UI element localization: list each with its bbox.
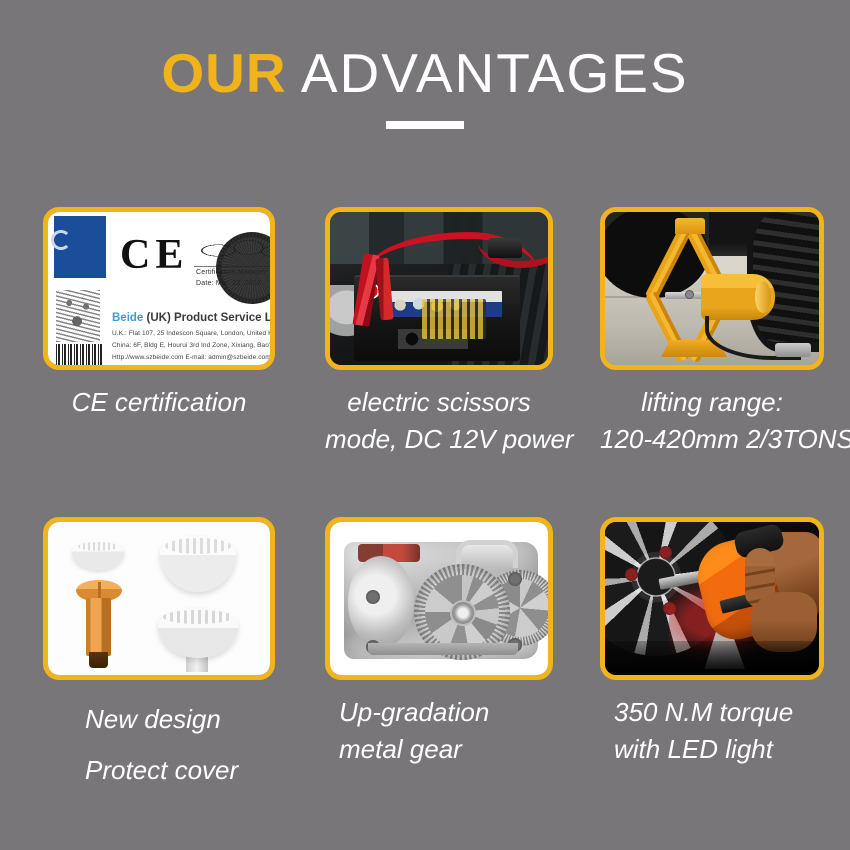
jack-pivot-pin — [685, 290, 694, 299]
jack-electric-motor — [701, 274, 775, 320]
caption-line: mode, DC 12V power — [325, 421, 553, 458]
jack-saddle — [675, 218, 705, 234]
power-plug — [775, 343, 811, 357]
title-underline-bar — [386, 121, 464, 129]
gearbox-bolt — [508, 572, 522, 586]
impact-wrench-on-wheel-photo — [605, 522, 819, 675]
page-title: OUR ADVANTAGES — [0, 42, 850, 104]
advantages-row-bottom: New design Protect cover — [0, 517, 850, 827]
caption-line: with LED light — [614, 731, 824, 768]
scissor-jack-under-car-photo — [605, 212, 819, 365]
royal-crest-icon — [56, 290, 100, 342]
certificate-address-line-2: China: 6F, Bldg E, Hourui 3rd Ind Zone, … — [112, 342, 270, 349]
advantage-caption: lifting range: 120-420mm 2/3TONS — [600, 384, 824, 458]
photo-frame — [600, 207, 824, 370]
barcode-icon — [56, 344, 102, 365]
advantages-grid: CE Certification Manager Date: Mar. 23, … — [0, 207, 850, 827]
orange-screw-tip — [89, 652, 108, 668]
advantage-caption: New design Protect cover — [43, 694, 275, 796]
advantage-card-torque-led[interactable]: 350 N.M torque with LED light — [600, 517, 824, 768]
certificate-address-line-3: Http://www.szbeide.com E-mail: admin@szb… — [112, 354, 270, 361]
gearbox-foot — [368, 643, 518, 655]
eu-flag-panel — [54, 216, 106, 278]
advantage-caption: CE certification — [43, 384, 275, 421]
caption-line: New design — [85, 694, 275, 745]
wheel-lug-nut — [659, 546, 672, 559]
cable-connector — [488, 238, 522, 258]
advantage-card-metal-gear[interactable]: Up-gradation metal gear — [325, 517, 553, 768]
gear-hub — [450, 600, 476, 626]
metal-gearbox-photo — [330, 522, 548, 675]
caption-line: metal gear — [339, 731, 553, 768]
page-title-accent: OUR — [161, 42, 286, 104]
caption-line: Up-gradation — [339, 694, 553, 731]
caption-line: 350 N.M torque — [614, 694, 824, 731]
ce-mark-label: CE — [120, 234, 188, 276]
page-title-rest: ADVANTAGES — [287, 42, 689, 104]
plastic-protect-covers-photo — [48, 522, 270, 675]
photo-frame — [325, 207, 553, 370]
caption-line: Protect cover — [85, 745, 275, 796]
certificate-address-line-1: U.K.: Flat 107, 25 Indescon Square, Lond… — [112, 330, 270, 337]
advantage-caption: electric scissors mode, DC 12V power — [325, 384, 553, 458]
photo-frame — [600, 517, 824, 680]
photo-frame — [325, 517, 553, 680]
advantage-caption: Up-gradation metal gear — [325, 694, 553, 768]
gearbox-end-cap — [348, 556, 414, 648]
caption-line: lifting range: — [600, 384, 824, 421]
photo-frame: CE Certification Manager Date: Mar. 23, … — [43, 207, 275, 370]
advantage-card-ce-certification[interactable]: CE Certification Manager Date: Mar. 23, … — [43, 207, 275, 421]
photo-shadow — [605, 641, 819, 675]
advantages-row-top: CE Certification Manager Date: Mar. 23, … — [0, 207, 850, 517]
advantage-caption: 350 N.M torque with LED light — [600, 694, 824, 768]
gearbox-housing — [344, 542, 538, 659]
caption-line: CE certification — [43, 384, 275, 421]
caption-line: 120-420mm 2/3TONS — [600, 421, 824, 458]
caption-line: electric scissors — [325, 384, 553, 421]
advantage-card-lifting-range[interactable]: lifting range: 120-420mm 2/3TONS — [600, 207, 824, 458]
wheel-lug-nut — [625, 568, 638, 581]
advantage-card-protect-cover[interactable]: New design Protect cover — [43, 517, 275, 796]
photo-frame — [43, 517, 275, 680]
page-header: OUR ADVANTAGES — [0, 0, 850, 180]
car-battery-jumper-clamps-photo — [330, 212, 548, 365]
gearbox-bolt — [366, 590, 380, 604]
company-rest: (UK) Product Service Limited — [143, 312, 270, 324]
company-brand: Beide — [112, 312, 143, 324]
orange-screw-body — [86, 598, 111, 656]
certificate-company-name: Beide (UK) Product Service Limited — [112, 312, 270, 324]
ce-certificate-photo: CE Certification Manager Date: Mar. 23, … — [48, 212, 270, 365]
fuse-box — [422, 299, 486, 339]
advantage-card-electric-scissors[interactable]: electric scissors mode, DC 12V power — [325, 207, 553, 458]
